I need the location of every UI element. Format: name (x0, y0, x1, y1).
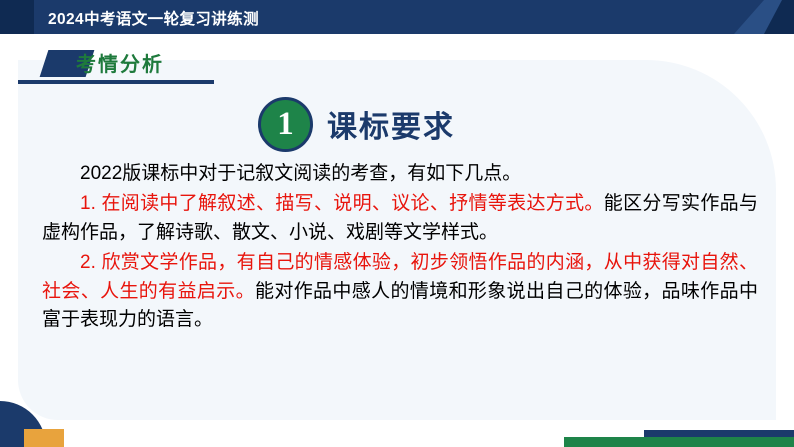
paragraph-3: 2. 欣赏文学作品，有自己的情感体验，初步领悟作品的内涵，从中获得对自然、社会、… (42, 249, 758, 336)
page-title: 课标要求 (327, 102, 455, 146)
slide: 2024中考语文一轮复习讲练测 考情分析 1 课标要求 2022版课标中对于记叙… (0, 0, 794, 447)
section-label: 考情分析 (18, 47, 228, 89)
step-number-text: 1 (277, 108, 294, 141)
section-label-text: 考情分析 (76, 48, 164, 77)
header-title: 2024中考语文一轮复习讲练测 (48, 7, 259, 29)
body-text: 2022版课标中对于记叙文阅读的考查，有如下几点。 1. 在阅读中了解叙述、描写… (42, 160, 758, 336)
bottom-left-decoration (0, 401, 70, 447)
header-bar: 2024中考语文一轮复习讲练测 (0, 0, 794, 34)
header-corner-decoration (614, 0, 794, 34)
step-number-badge: 1 (258, 97, 313, 152)
bottom-left-orange-bar (24, 429, 64, 447)
title-row: 1 课标要求 (258, 96, 455, 152)
bottom-right-blue-band (644, 430, 794, 437)
section-underline-cap (18, 80, 32, 84)
bottom-right-decoration (564, 417, 794, 447)
header-accent-block (0, 0, 34, 34)
paragraph-2-highlight: 1. 在阅读中了解叙述、描写、说明、议论、抒情等表达方式。 (80, 193, 604, 214)
header-corner-lines-icon (614, 0, 794, 34)
section-underline (18, 80, 214, 84)
bottom-right-green-band (564, 437, 794, 447)
paragraph-1: 2022版课标中对于记叙文阅读的考查，有如下几点。 (42, 160, 758, 189)
paragraph-2: 1. 在阅读中了解叙述、描写、说明、议论、抒情等表达方式。能区分写实作品与虚构作… (42, 190, 758, 248)
